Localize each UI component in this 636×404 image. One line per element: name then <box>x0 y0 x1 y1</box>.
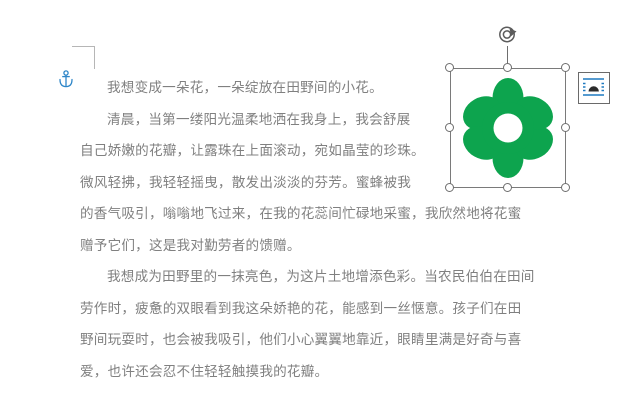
resize-handle-middle-left[interactable] <box>445 123 454 132</box>
resize-handle-bottom-center[interactable] <box>503 183 512 192</box>
resize-handle-top-left[interactable] <box>445 63 454 72</box>
resize-handle-bottom-right[interactable] <box>561 183 570 192</box>
top-left-margin-marker <box>72 46 95 69</box>
text-line: 劳作时，疲惫的双眼看到我这朵娇艳的花，能感到一丝惬意。孩子们在田 <box>80 293 552 325</box>
text-line: 野间玩耍时，也会被我吸引，他们小心翼翼地靠近，眼睛里满是好奇与喜 <box>80 324 552 356</box>
selected-picture-frame[interactable] <box>450 68 566 188</box>
anchor-icon <box>58 70 74 88</box>
paragraph[interactable]: 我想成为田野里的一抹亮色，为这片土地增添色彩。当农民伯伯在田间 劳作时，疲惫的双… <box>80 261 552 387</box>
document-page: 我想变成一朵花，一朵绽放在田野间的小花。 清晨，当第一缕阳光温柔地洒在我身上，我… <box>0 0 636 404</box>
resize-handle-middle-right[interactable] <box>561 123 570 132</box>
text-line: 赠予它们，这是我对勤劳者的馈赠。 <box>80 230 552 262</box>
text-line: 爱，也许还会忍不住轻轻触摸我的花瓣。 <box>80 356 552 388</box>
resize-handle-top-center[interactable] <box>503 63 512 72</box>
layout-options-button[interactable] <box>578 72 610 104</box>
resize-handle-bottom-left[interactable] <box>445 183 454 192</box>
flower-graphic[interactable] <box>458 76 558 180</box>
resize-handle-top-right[interactable] <box>561 63 570 72</box>
text-line: 我想成为田野里的一抹亮色，为这片土地增添色彩。当农民伯伯在田间 <box>80 261 552 293</box>
rotate-handle-icon[interactable] <box>497 24 519 46</box>
text-line: 的香气吸引，嗡嗡地飞过来，在我的花蕊间忙碌地采蜜，我欣然地将花蜜 <box>80 198 552 230</box>
